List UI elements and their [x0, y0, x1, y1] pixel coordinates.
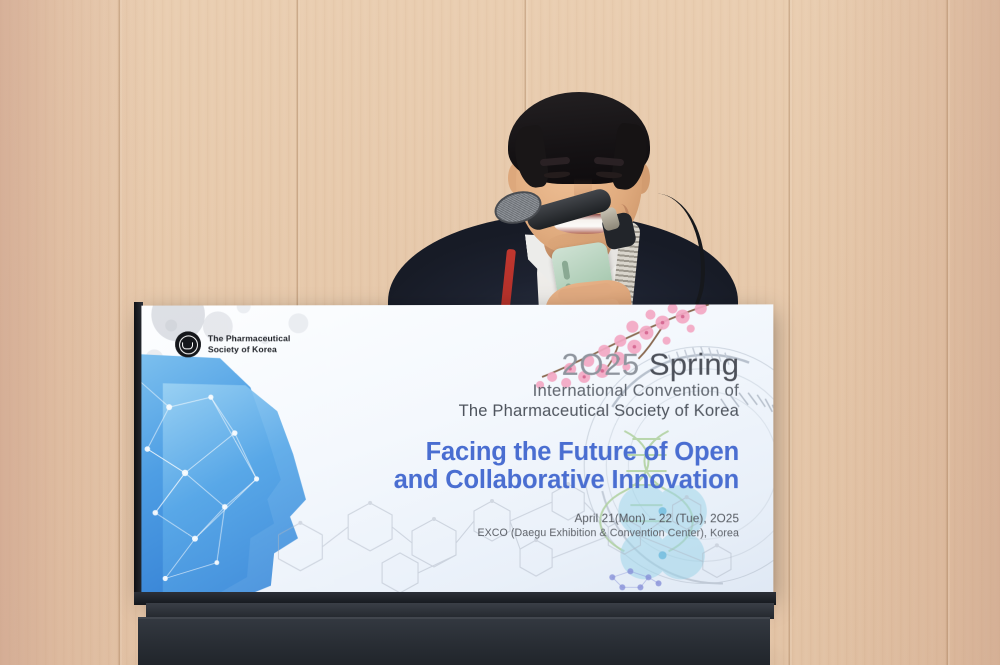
wall-plank-shade [0, 0, 150, 665]
event-headline: Facing the Future of Open and Collaborat… [318, 438, 739, 494]
bokeh-circle [237, 304, 251, 313]
wall-seam [946, 0, 950, 665]
event-subtitle-line-1: International Convention of [318, 382, 739, 401]
organization-name: The Pharmaceutical Society of Korea [208, 334, 291, 355]
organization-logo: The Pharmaceutical Society of Korea [175, 331, 290, 357]
speaker-figure [398, 86, 728, 331]
event-banner: The Pharmaceutical Society of Korea 2O25… [141, 304, 773, 595]
headline-line-1: Facing the Future of Open [318, 438, 739, 466]
event-year: 2O25 [562, 347, 640, 382]
hair [508, 92, 650, 184]
event-season: Spring [649, 347, 739, 382]
banner-text-block: 2O25 Spring International Convention of … [318, 347, 739, 540]
org-line-2: Society of Korea [208, 344, 291, 355]
photo-scene: The Pharmaceutical Society of Korea 2O25… [0, 0, 1000, 665]
wall-plank-shade [800, 0, 1000, 665]
society-emblem-icon [175, 331, 201, 357]
podium-base [138, 617, 770, 665]
event-subtitle-line-2: The Pharmaceutical Society of Korea [318, 402, 739, 421]
org-line-1: The Pharmaceutical [208, 334, 291, 345]
wall-seam [118, 0, 122, 665]
event-venue: EXCO (Daegu Exhibition & Convention Cent… [318, 527, 739, 539]
headline-line-2: and Collaborative Innovation [318, 466, 739, 494]
wall-seam [788, 0, 792, 665]
event-year-season: 2O25 Spring [318, 347, 739, 384]
event-dates: April 21(Mon) – 22 (Tue), 2O25 [318, 512, 739, 525]
bokeh-circle [288, 313, 308, 333]
bokeh-circle [165, 320, 177, 332]
